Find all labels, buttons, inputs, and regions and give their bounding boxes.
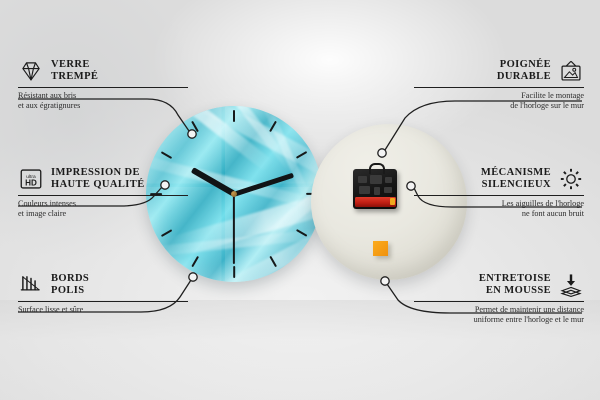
callout-subtitle: Les aiguilles de l'horloge ne font aucun…: [414, 199, 584, 219]
svg-text:HD: HD: [25, 179, 37, 188]
callout-title: BORDS POLIS: [51, 273, 89, 298]
callout-impression-haute-qualite: ultra HD IMPRESSION DE HAUTE QUALITÉ Cou…: [18, 166, 188, 219]
clock-minute-hand: [233, 173, 293, 196]
callout-header: VERRE TREMPÉ: [18, 58, 188, 84]
clock-tick: [191, 256, 199, 267]
clock-center-cap: [231, 191, 237, 197]
callout-header: ultra HD IMPRESSION DE HAUTE QUALITÉ: [18, 166, 188, 192]
callout-title: VERRE TREMPÉ: [51, 59, 98, 84]
callout-header: BORDS POLIS: [18, 272, 188, 298]
callout-rule: [414, 301, 584, 302]
callout-subtitle: Permet de maintenir une distance uniform…: [414, 305, 584, 325]
callout-subtitle: Couleurs intenses et image claire: [18, 199, 188, 219]
clock-tick: [161, 151, 172, 159]
battery: [355, 197, 396, 207]
callout-header: POIGNÉE DURABLE: [414, 58, 584, 84]
callout-header: MÉCANISME SILENCIEUX: [414, 166, 584, 192]
gear-icon: [558, 166, 584, 192]
clock-tick: [161, 229, 172, 237]
callout-rule: [414, 87, 584, 88]
callout-rule: [18, 195, 188, 196]
callout-rule: [18, 87, 188, 88]
callout-header: ENTRETOISE EN MOUSSE: [414, 272, 584, 298]
callout-title: ENTRETOISE EN MOUSSE: [479, 273, 551, 298]
callout-subtitle: Résistant aux bris et aux égratignures: [18, 91, 188, 111]
clock-hour-hand: [191, 168, 235, 197]
connector-dot-bords-polis: [189, 273, 197, 281]
callout-title: MÉCANISME SILENCIEUX: [481, 167, 551, 192]
callout-rule: [18, 301, 188, 302]
callout-title: POIGNÉE DURABLE: [497, 59, 551, 84]
clock-second-hand: [233, 194, 235, 264]
callout-rule: [414, 195, 584, 196]
callout-entretoise-en-mousse: ENTRETOISE EN MOUSSE Permet de maintenir…: [414, 272, 584, 325]
clock-mechanism-box: [353, 169, 397, 209]
clock-tick: [269, 256, 277, 267]
clock-tick: [296, 229, 307, 237]
foam-spacer-icon: [558, 272, 584, 298]
ultra-hd-icon: ultra HD: [18, 166, 44, 192]
clock-tick: [233, 110, 235, 122]
callout-subtitle: Surface lisse et sûre: [18, 305, 188, 315]
clock-tick: [233, 266, 235, 278]
callout-title: IMPRESSION DE HAUTE QUALITÉ: [51, 167, 145, 192]
diamond-icon: [18, 58, 44, 84]
polished-edges-icon: [18, 272, 44, 298]
callout-bords-polis: BORDS POLIS Surface lisse et sûre: [18, 272, 188, 315]
hanger-loop-icon: [369, 163, 385, 174]
picture-hanger-icon: [558, 58, 584, 84]
callout-poignee-durable: POIGNÉE DURABLE Facilite le montage de l…: [414, 58, 584, 111]
clock-tick: [191, 121, 199, 132]
callout-verre-trempe: VERRE TREMPÉ Résistant aux bris et aux é…: [18, 58, 188, 111]
infographic-canvas: VERRE TREMPÉ Résistant aux bris et aux é…: [0, 0, 600, 400]
clock-tick: [296, 151, 307, 159]
battery-terminal: [390, 198, 395, 205]
clock-tick: [269, 121, 277, 132]
foam-spacer-square: [373, 241, 388, 256]
callout-mecanisme-silencieux: MÉCANISME SILENCIEUX Les aiguilles de l'…: [414, 166, 584, 219]
callout-subtitle: Facilite le montage de l'horloge sur le …: [414, 91, 584, 111]
